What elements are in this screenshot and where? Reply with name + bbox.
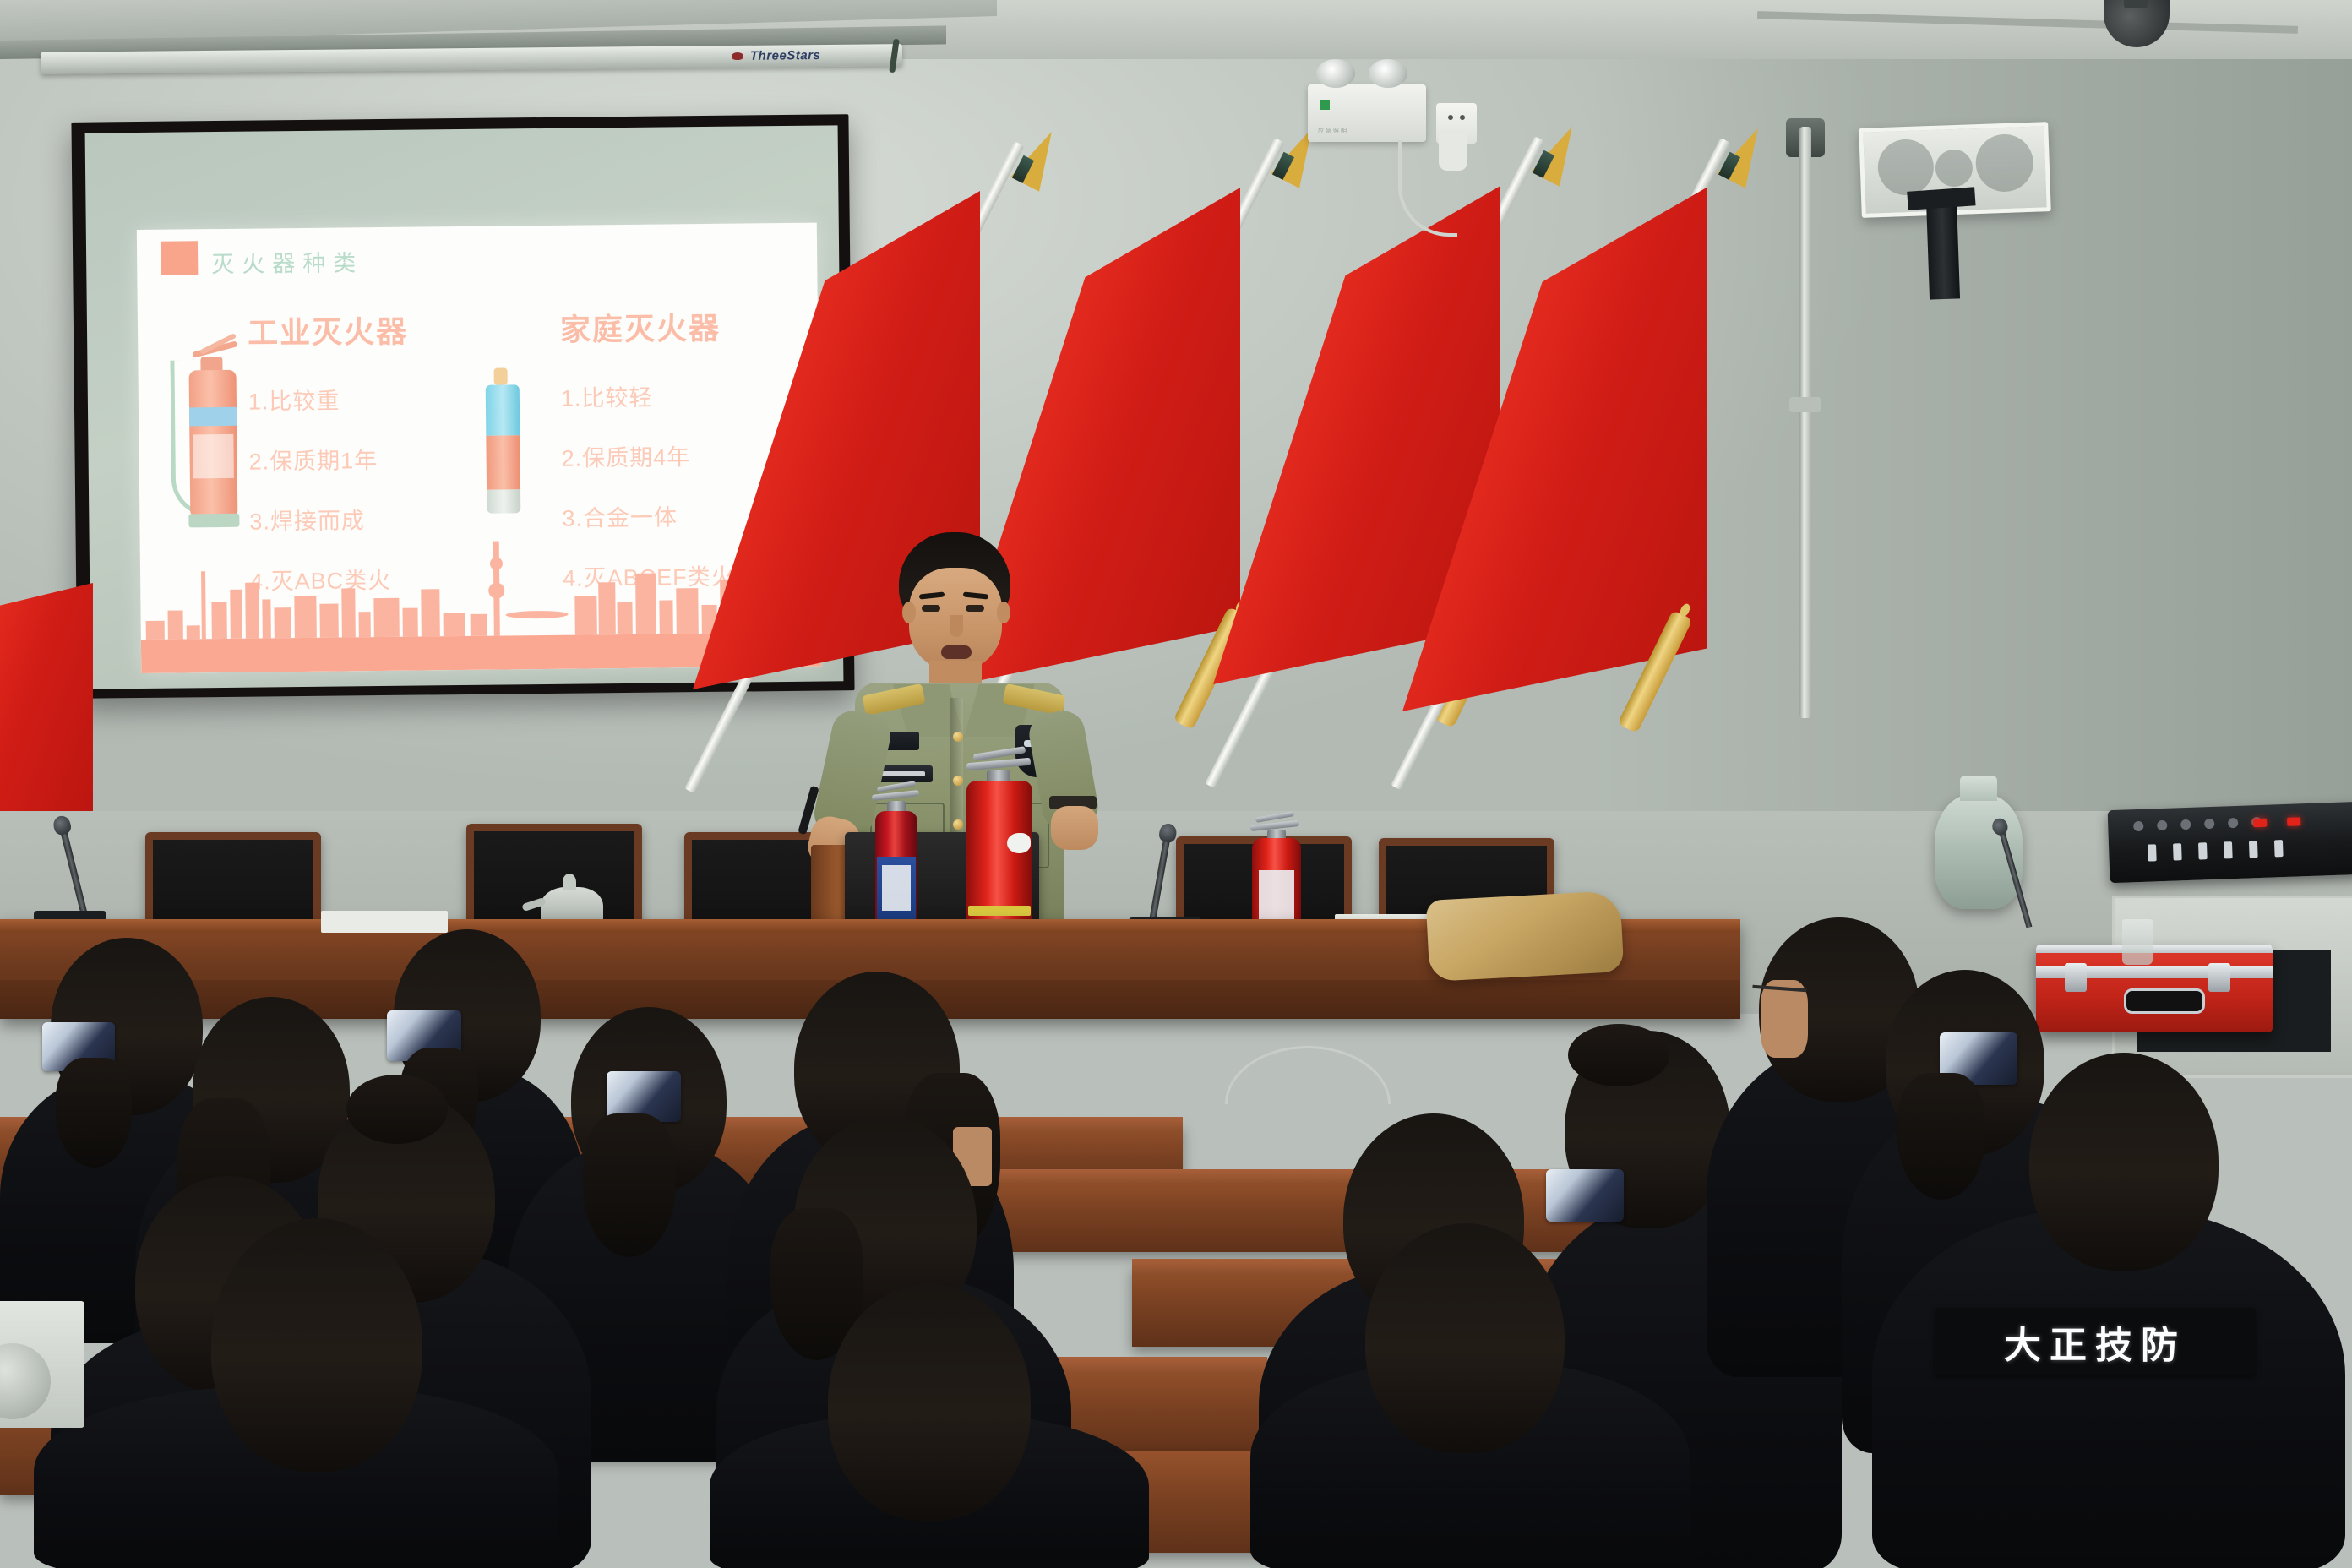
extinguisher-handle-icon bbox=[192, 341, 242, 357]
mixer-led-icon bbox=[2287, 817, 2300, 826]
projector-brand-label: ThreeStars bbox=[750, 48, 821, 63]
red-equipment-case[interactable] bbox=[2036, 945, 2273, 1032]
uniform-button bbox=[953, 732, 963, 742]
audio-mixer-console[interactable] bbox=[2108, 802, 2352, 883]
presenter-eye-left bbox=[922, 605, 940, 612]
case-handle[interactable] bbox=[2124, 988, 2205, 1014]
extinguisher-upper-icon bbox=[486, 384, 520, 435]
emergency-light-icon: 应急照明 bbox=[1308, 84, 1426, 142]
list-item: 1.比较重 bbox=[248, 382, 409, 416]
speaker-mount-bracket bbox=[1926, 199, 1960, 299]
industrial-extinguisher-icon bbox=[170, 335, 253, 534]
list-item: 3.合金一体 bbox=[562, 498, 734, 533]
slide-title: 灭火器种类 bbox=[211, 244, 363, 279]
extinguisher-white-label bbox=[1259, 870, 1294, 923]
gold-cloth[interactable] bbox=[1426, 890, 1625, 982]
extinguisher-mid-icon bbox=[486, 435, 520, 489]
extinguisher-top-icon bbox=[494, 367, 508, 384]
presenter-hand-right bbox=[1051, 806, 1098, 850]
presentation-slide: 灭火器种类 工业灭火器 1.比较重 2.保质期1年 3.焊接而成 4.灭ABC类… bbox=[137, 223, 821, 673]
case-top-trim bbox=[2036, 945, 2273, 953]
list-item: 1.比较轻 bbox=[561, 378, 733, 413]
emergency-lamp-left-icon bbox=[1316, 59, 1355, 88]
slide-accent-chip bbox=[161, 241, 198, 275]
threestars-logo-icon bbox=[732, 52, 743, 60]
extinguisher-label-icon bbox=[189, 407, 237, 427]
jacket-back-badge: 大正技防 bbox=[1935, 1308, 2256, 1375]
case-latch[interactable] bbox=[2208, 963, 2230, 992]
household-extinguisher-icon bbox=[481, 367, 533, 525]
emergency-lamp-right-icon bbox=[1369, 59, 1407, 88]
glass-cup bbox=[2122, 919, 2153, 965]
presenter-mouth bbox=[941, 645, 972, 659]
presenter-ear-left bbox=[902, 602, 916, 623]
wall-arch-detail bbox=[1225, 1046, 1391, 1104]
status-led-icon bbox=[1320, 100, 1330, 110]
spear-finial-icon bbox=[1010, 124, 1066, 192]
uniform-button bbox=[953, 819, 963, 830]
extinguisher-yellow-band bbox=[968, 906, 1031, 916]
spear-finial-icon bbox=[1531, 119, 1587, 187]
presenter-nose bbox=[950, 615, 963, 637]
jacket-back-text: 大正技防 bbox=[2004, 1315, 2186, 1369]
spear-finial-icon bbox=[1717, 121, 1772, 188]
training-room-photo: ThreeStars 灭火器种类 工业灭火器 1.比较重 2.保质期1年 3.焊… bbox=[0, 0, 2352, 1568]
slide-column-list: 1.比较轻 2.保质期4年 3.合金一体 4.灭ABCEF类火 bbox=[561, 378, 735, 593]
list-item: 3.焊接而成 bbox=[249, 502, 410, 536]
extinguisher-label2-icon bbox=[193, 434, 234, 478]
standpipe-valve bbox=[1789, 397, 1821, 412]
extinguisher-base-icon bbox=[188, 514, 239, 528]
presenter-ear-right bbox=[997, 602, 1010, 623]
standpipe bbox=[1799, 127, 1811, 718]
slide-column-heading: 工业灭火器 bbox=[248, 308, 409, 353]
presenter-eye-right bbox=[966, 605, 984, 612]
slide-column-list: 1.比较重 2.保质期1年 3.焊接而成 4.灭ABC类火 bbox=[248, 382, 411, 596]
case-latch[interactable] bbox=[2065, 963, 2087, 992]
emergency-light-label: 应急照明 bbox=[1318, 127, 1348, 135]
extinguisher-inspection-tag bbox=[1007, 833, 1031, 853]
extinguisher-lower-icon bbox=[487, 489, 520, 513]
mixer-led-icon bbox=[2253, 819, 2267, 828]
list-item: 2.保质期1年 bbox=[248, 442, 409, 476]
extinguisher-white-label bbox=[882, 865, 911, 911]
uniform-button bbox=[953, 776, 963, 786]
table-paper bbox=[321, 911, 448, 933]
list-item: 2.保质期4年 bbox=[561, 438, 733, 473]
slide-column-heading: 家庭灭火器 bbox=[560, 304, 732, 350]
